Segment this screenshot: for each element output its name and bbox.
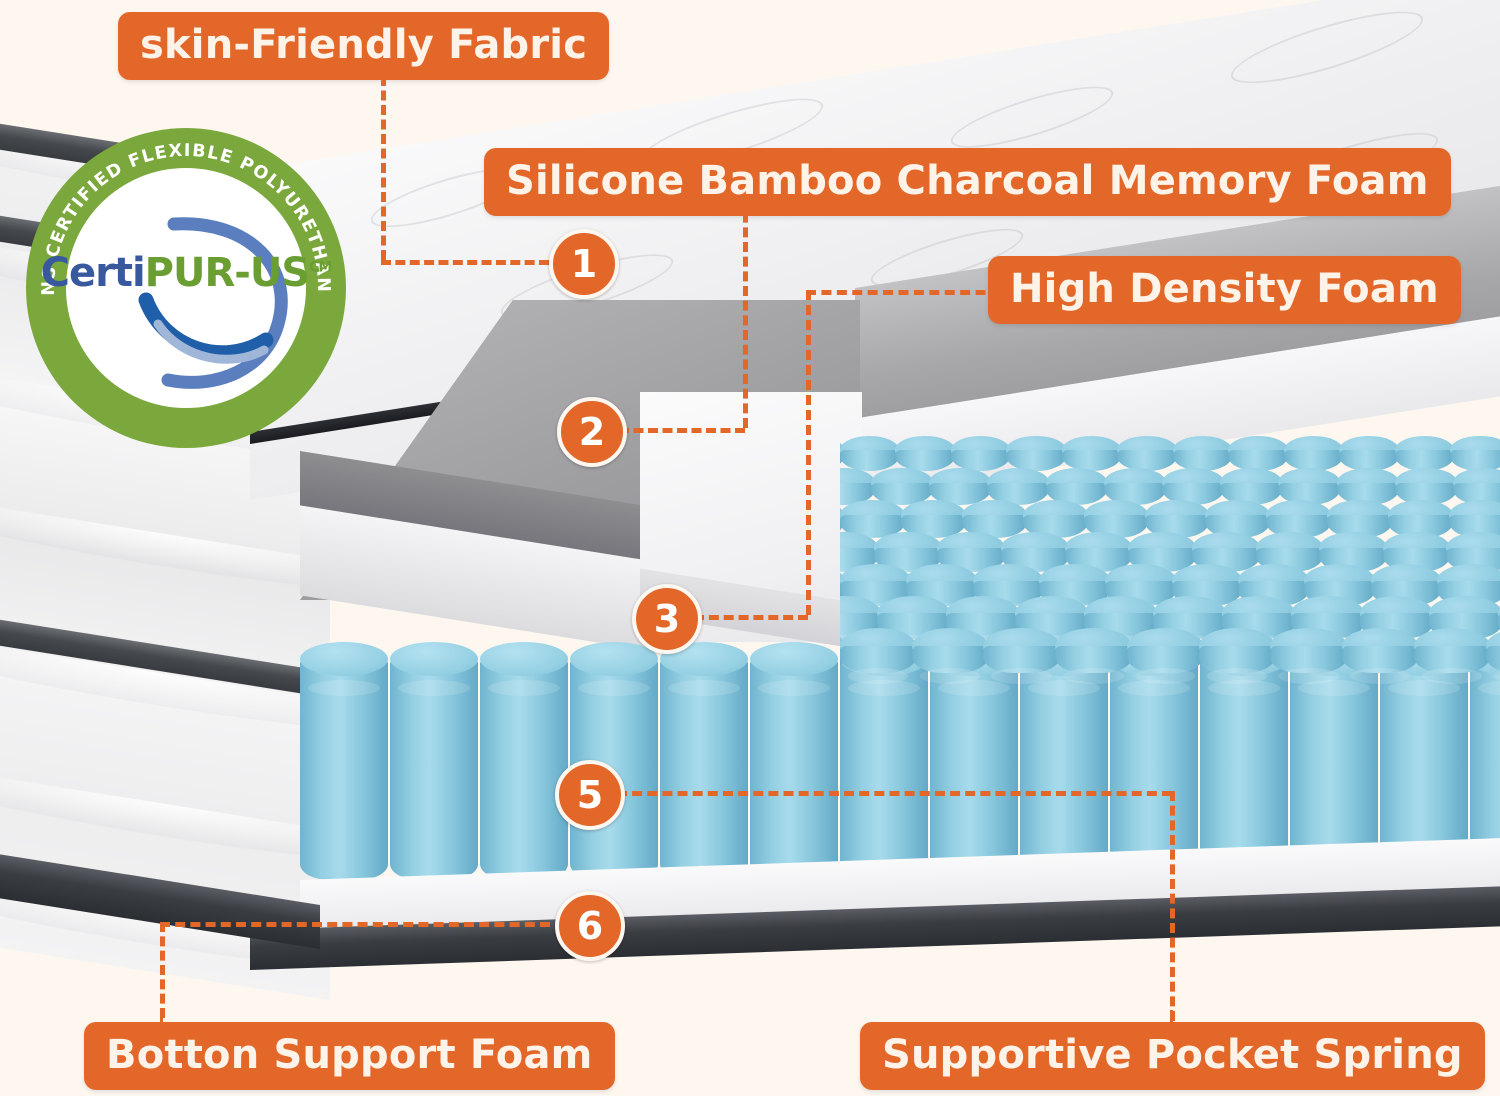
connector-memory-foam-vertical (743, 198, 748, 428)
label-memory-foam[interactable]: Silicone Bamboo Charcoal Memory Foam (484, 148, 1451, 216)
pocket-spring-coil-front (480, 658, 568, 880)
badge-number-6[interactable]: 6 (555, 891, 625, 961)
connector-fabric-vertical (381, 76, 386, 260)
pocket-spring-coil-front (1110, 658, 1198, 880)
connector-spring-vertical (1170, 791, 1175, 1021)
pocket-spring-coil-front-cap (300, 642, 388, 676)
tick-spring (1170, 1010, 1173, 1028)
pocket-spring-coil-body (983, 646, 1059, 673)
pocket-spring-coil-front-cap (750, 642, 838, 676)
badge-number-5[interactable]: 5 (555, 760, 625, 830)
pocket-spring-coil-front-cap (390, 642, 478, 676)
connector-density-foam-horizontal-top (806, 290, 1001, 295)
tick-fabric (381, 72, 384, 82)
label-supportive-pocket-spring[interactable]: Supportive Pocket Spring (860, 1022, 1485, 1090)
connector-fabric-horizontal (381, 260, 549, 265)
badge-number-1[interactable]: 1 (549, 229, 619, 299)
wordmark-certi: Certi (41, 250, 145, 296)
badge-wordmark: CertiPUR-USCM (26, 250, 346, 296)
pocket-spring-coil-front-cap (570, 642, 658, 676)
pocket-spring-coil-front (750, 658, 838, 880)
pocket-spring-coil-front (300, 658, 388, 880)
label-high-density-foam[interactable]: High Density Foam (988, 256, 1461, 324)
tick-support-foam (160, 1008, 163, 1026)
pocket-spring-coil-body (1199, 646, 1275, 673)
mattress-infographic: CONTAINS CERTIFIED FLEXIBLE POLYURETHANE… (0, 0, 1500, 1096)
pocket-spring-coil-front (390, 658, 478, 880)
pocket-spring-coil-front (660, 658, 748, 880)
certipur-us-badge: CONTAINS CERTIFIED FLEXIBLE POLYURETHANE… (26, 128, 346, 448)
pocket-spring-coil-front (1020, 658, 1108, 880)
pocket-spring-coil-body (1270, 646, 1346, 673)
badge-number-3[interactable]: 3 (632, 584, 702, 654)
connector-density-foam-horizontal-bottom (694, 615, 808, 620)
connector-density-foam-vertical (806, 290, 811, 615)
pocket-spring-coil-front (930, 658, 1018, 880)
pocket-spring-coil-body (1414, 646, 1490, 673)
wordmark-pur-us: PUR-US (145, 250, 310, 296)
wordmark-cm-mark: CM (309, 260, 331, 276)
pocket-spring-coil-front (840, 658, 928, 880)
label-skin-friendly-fabric[interactable]: skin-Friendly Fabric (118, 12, 609, 80)
connector-spring-horizontal (617, 791, 1172, 796)
pocket-spring-coil-body (1342, 646, 1418, 673)
pocket-spring-field-rear (840, 436, 1500, 686)
pocket-spring-coil-body (840, 646, 916, 673)
connector-support-foam-horizontal (160, 922, 550, 927)
pocket-spring-coil-body (1127, 646, 1203, 673)
label-botton-support-foam[interactable]: Botton Support Foam (84, 1022, 615, 1090)
connector-support-foam-vertical (160, 922, 165, 1018)
badge-number-2[interactable]: 2 (557, 397, 627, 467)
connector-memory-foam-horizontal (619, 428, 745, 433)
pocket-spring-coil-body (1055, 646, 1131, 673)
pocket-spring-coil-front-cap (480, 642, 568, 676)
pocket-spring-coil-body (912, 646, 988, 673)
